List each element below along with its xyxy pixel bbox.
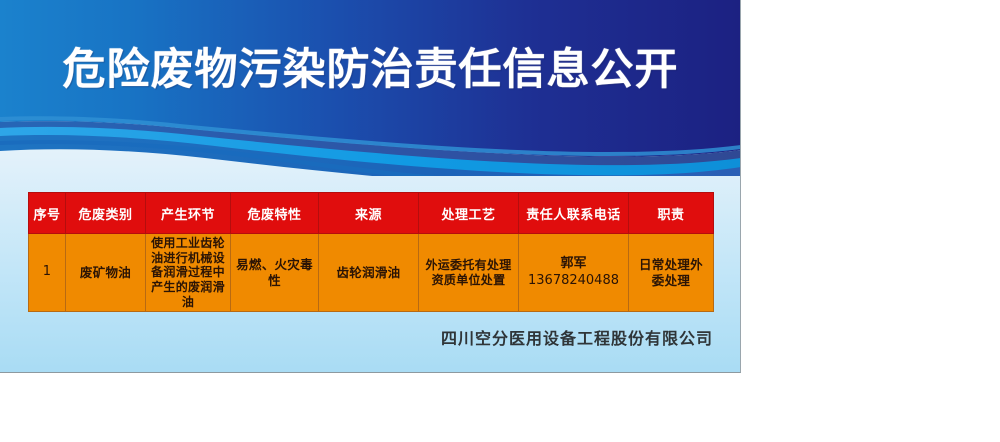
poster-banner: 危险废物污染防治责任信息公开 — [0, 0, 741, 176]
cell-treatment: 外运委托有处理资质单位处置 — [419, 234, 519, 312]
hazardous-waste-table: 序号 危废类别 产生环节 危废特性 来源 处理工艺 责任人联系电话 职责 1 废… — [28, 192, 714, 312]
column-header-characteristics: 危废特性 — [231, 193, 319, 234]
company-name: 四川空分医用设备工程股份有限公司 — [0, 325, 713, 349]
column-header-generation-stage: 产生环节 — [146, 193, 231, 234]
column-header-source: 来源 — [319, 193, 419, 234]
column-header-duty: 职责 — [629, 193, 714, 234]
column-header-contact: 责任人联系电话 — [519, 193, 629, 234]
banner-wave-graphic — [0, 0, 741, 176]
cell-contact: 郭军 13678240488 — [519, 234, 629, 312]
cell-category: 废矿物油 — [66, 234, 146, 312]
information-disclosure-poster: 危险废物污染防治责任信息公开 序号 危废类别 产生环节 危废特性 来源 处理工艺… — [0, 0, 741, 373]
cell-source: 齿轮润滑油 — [319, 234, 419, 312]
column-header-index: 序号 — [29, 193, 66, 234]
table-header-row: 序号 危废类别 产生环节 危废特性 来源 处理工艺 责任人联系电话 职责 — [29, 193, 714, 234]
column-header-treatment: 处理工艺 — [419, 193, 519, 234]
contact-person-phone: 13678240488 — [528, 273, 619, 288]
cell-characteristics: 易燃、火灾毒性 — [231, 234, 319, 312]
cell-duty: 日常处理外委处理 — [629, 234, 714, 312]
cell-generation-stage: 使用工业齿轮油进行机械设备润滑过程中产生的废润滑油 — [146, 234, 231, 312]
column-header-category: 危废类别 — [66, 193, 146, 234]
cell-index: 1 — [29, 234, 66, 312]
table-row: 1 废矿物油 使用工业齿轮油进行机械设备润滑过程中产生的废润滑油 易燃、火灾毒性… — [29, 234, 714, 312]
contact-person-name: 郭军 — [523, 256, 624, 273]
